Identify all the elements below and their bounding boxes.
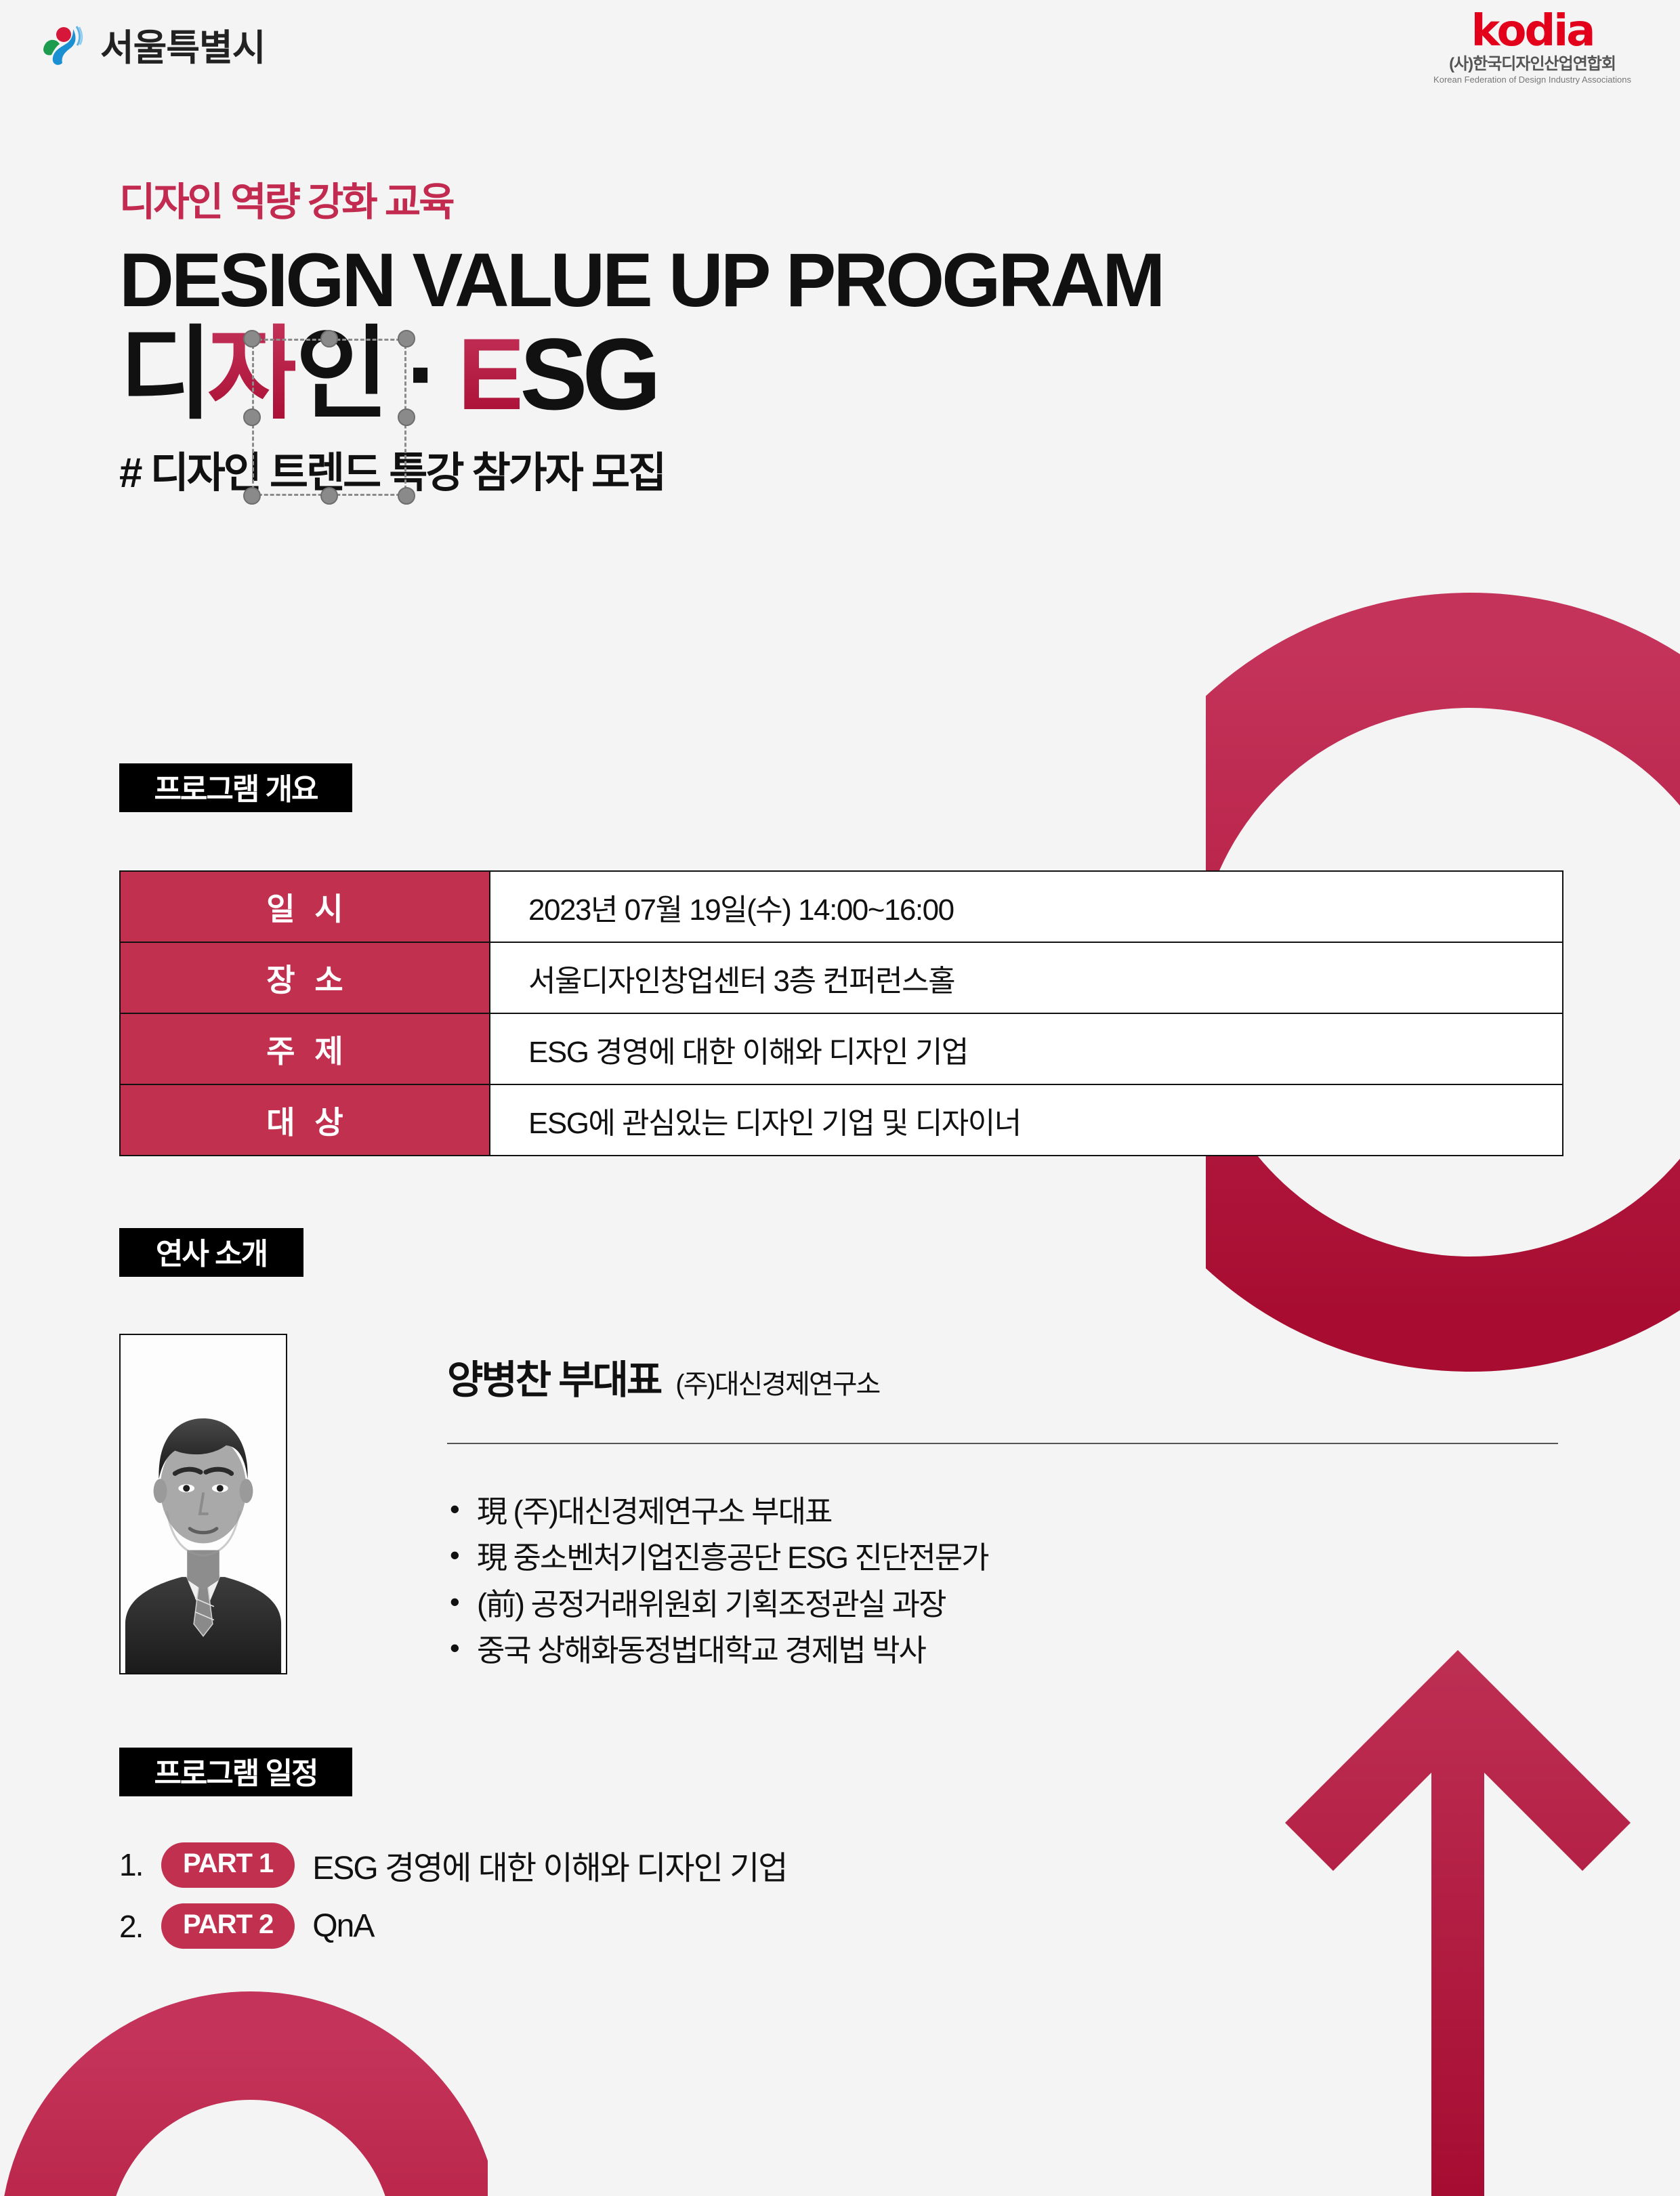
title-kr-highlight-ja: 자: [207, 317, 295, 431]
subtitle-text: # 디자인 트렌드 특강 참가자 모집: [119, 452, 1162, 494]
schedule-label: QnA: [312, 1907, 373, 1945]
list-item: 중국 상해화동정법대학교 경제법 박사: [447, 1628, 1572, 1674]
main-title-english: DESIGN VALUE UP PROGRAM: [119, 242, 1162, 318]
schedule-number: 1.: [119, 1846, 161, 1883]
list-item: 現 중소벤처기업진흥공단 ESG 진단전문가: [447, 1535, 1572, 1581]
seoul-emblem-icon: [38, 20, 88, 70]
speaker-credentials-list: 現 (주)대신경제연구소 부대표 現 중소벤처기업진흥공단 ESG 진단전문가 …: [447, 1489, 1572, 1674]
table-key-cell: 일 시: [120, 871, 490, 942]
table-row: 대 상 ESG에 관심있는 디자인 기업 및 디자이너: [120, 1084, 1563, 1156]
program-schedule-list: 1. PART 1 ESG 경영에 대한 이해와 디자인 기업 2. PART …: [119, 1841, 786, 1964]
kodia-korean-name: (사)한국디자인산업연합회: [1433, 56, 1631, 73]
list-item: 現 (주)대신경제연구소 부대표: [447, 1489, 1572, 1535]
main-title-korean: 디자인 · ESG: [119, 321, 1162, 428]
seoul-city-logo: 서울특별시: [38, 18, 265, 71]
kodia-logo: kodia (사)한국디자인산업연합회 Korean Federation of…: [1433, 9, 1631, 85]
table-key-cell: 대 상: [120, 1084, 490, 1156]
list-item: (前) 공정거래위원회 기획조정관실 과장: [447, 1582, 1572, 1628]
program-overview-table: 일 시 2023년 07월 19일(수) 14:00~16:00 장 소 서울디…: [119, 870, 1563, 1156]
speaker-name: 양병찬 부대표: [447, 1348, 660, 1405]
table-row: 장 소 서울디자인창업센터 3층 컨퍼런스홀: [120, 942, 1563, 1013]
title-block: 디자인 역량 강화 교육 DESIGN VALUE UP PROGRAM 디자인…: [119, 183, 1162, 494]
speaker-info: 양병찬 부대표 (주)대신경제연구소 現 (주)대신경제연구소 부대표 現 중소…: [447, 1348, 1572, 1674]
kodia-wordmark: kodia: [1433, 9, 1631, 53]
schedule-part-badge: PART 2: [161, 1903, 295, 1949]
arrow-up-icon: [1285, 1650, 1631, 2196]
eyebrow-text: 디자인 역량 강화 교육: [119, 183, 1162, 222]
kodia-english-name: Korean Federation of Design Industry Ass…: [1433, 75, 1631, 85]
title-esg-e: E: [457, 317, 520, 431]
table-value-cell: 2023년 07월 19일(수) 14:00~16:00: [490, 871, 1563, 942]
table-row: 일 시 2023년 07월 19일(수) 14:00~16:00: [120, 871, 1563, 942]
speaker-divider: [447, 1443, 1558, 1444]
table-key-cell: 주 제: [120, 1013, 490, 1084]
title-esg-sg: SG: [520, 317, 656, 431]
title-kr-part-1: 디: [119, 317, 207, 431]
table-value-cell: 서울디자인창업센터 3층 컨퍼런스홀: [490, 942, 1563, 1013]
seoul-logo-text: 서울특별시: [100, 18, 265, 71]
speaker-organization: (주)대신경제연구소: [675, 1362, 879, 1401]
schedule-row: 1. PART 1 ESG 경영에 대한 이해와 디자인 기업: [119, 1841, 786, 1888]
table-key-cell: 장 소: [120, 942, 490, 1013]
title-kr-part-2: 인 ·: [295, 317, 457, 431]
table-value-cell: ESG에 관심있는 디자인 기업 및 디자이너: [490, 1084, 1563, 1156]
section-badge-schedule: 프로그램 일정: [119, 1748, 352, 1796]
table-value-cell: ESG 경영에 대한 이해와 디자인 기업: [490, 1013, 1563, 1084]
section-badge-overview: 프로그램 개요: [119, 763, 352, 812]
section-badge-speaker: 연사 소개: [119, 1228, 303, 1277]
schedule-number: 2.: [119, 1908, 161, 1945]
table-row: 주 제 ESG 경영에 대한 이해와 디자인 기업: [120, 1013, 1563, 1084]
schedule-row: 2. PART 2 QnA: [119, 1903, 786, 1949]
speaker-portrait-photo: [119, 1334, 287, 1674]
page-header: 서울특별시 kodia (사)한국디자인산업연합회 Korean Federat…: [0, 0, 1680, 122]
schedule-label: ESG 경영에 대한 이해와 디자인 기업: [312, 1841, 786, 1888]
speaker-heading: 양병찬 부대표 (주)대신경제연구소: [447, 1348, 1572, 1405]
schedule-part-badge: PART 1: [161, 1842, 295, 1888]
arc-ring-left: [54, 2046, 447, 2196]
